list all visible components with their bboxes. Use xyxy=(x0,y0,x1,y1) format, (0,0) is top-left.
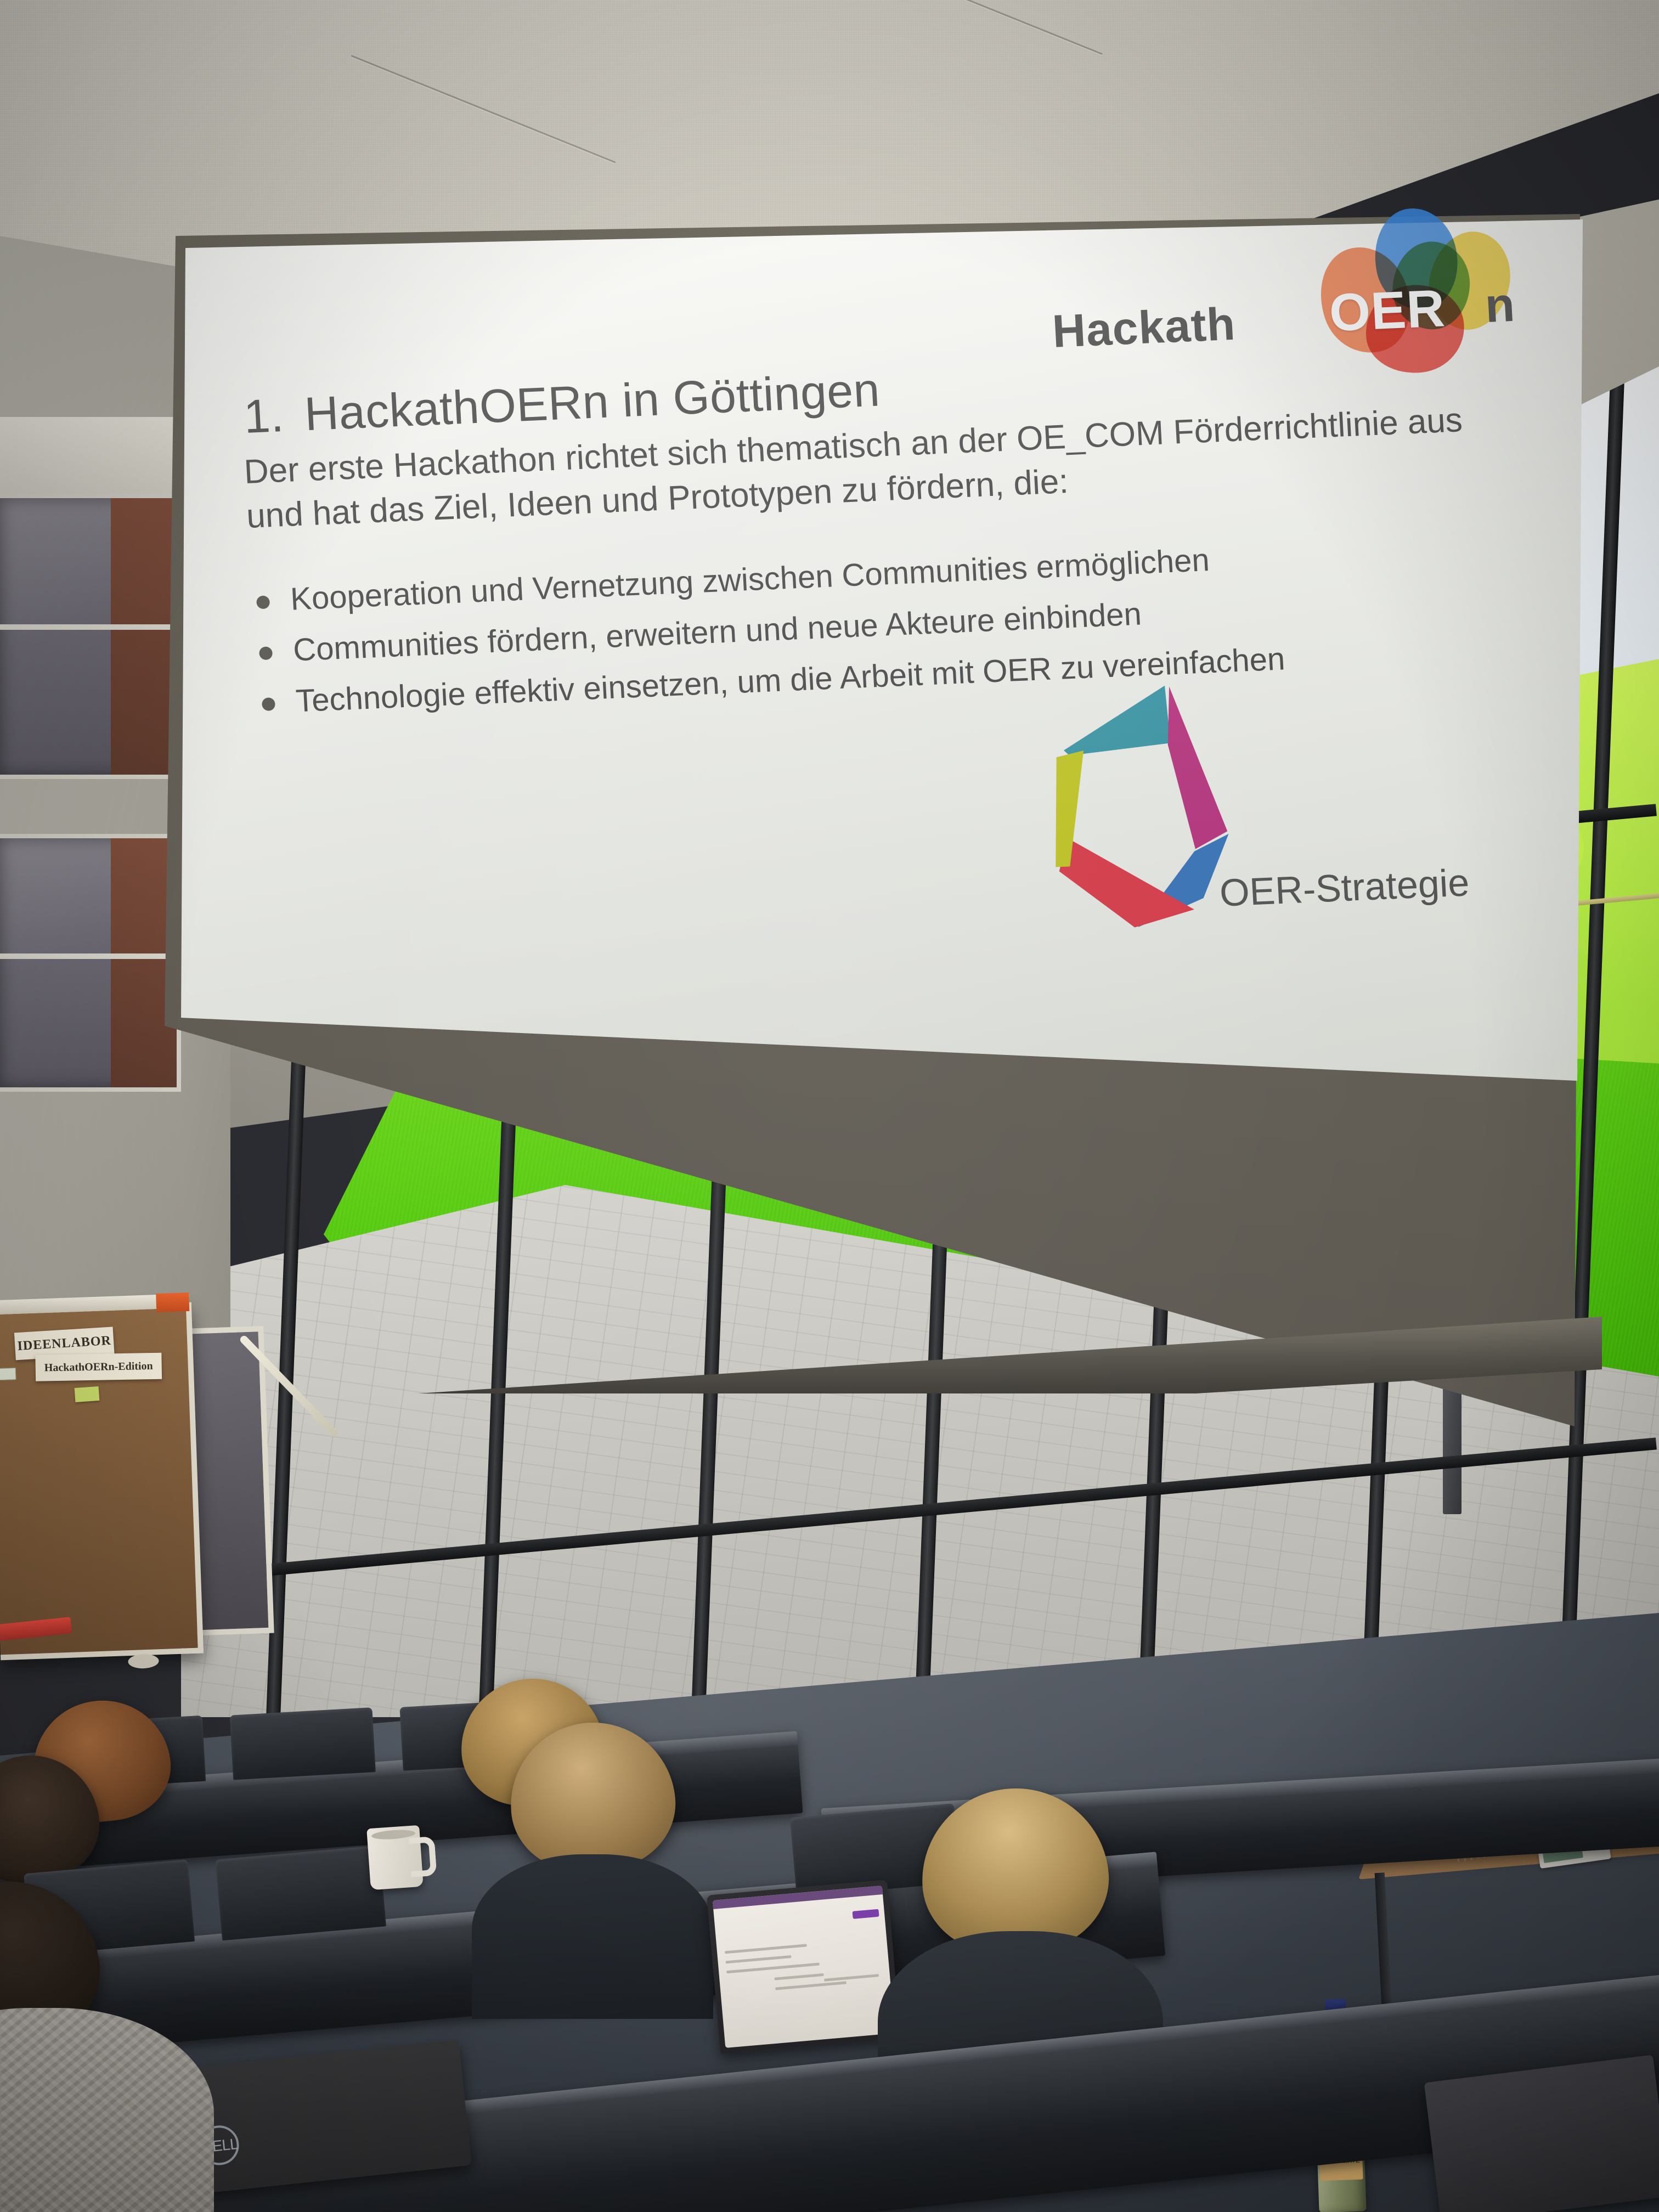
logo-word-suffix: n xyxy=(1483,276,1516,334)
facet-teal xyxy=(1060,686,1171,756)
laptop-closed-right[interactable] xyxy=(1424,2055,1659,2212)
hackathoern-logo: Hackath OER n xyxy=(1047,203,1549,388)
seat-back xyxy=(215,1846,386,1941)
person-shoulders xyxy=(472,1854,713,2019)
logo-word-prefix: Hackath xyxy=(1051,297,1237,358)
screen-text-line xyxy=(775,1981,847,1990)
screen-text-line xyxy=(726,1955,792,1963)
photograph: IDEENLABOR HackathOERn-Edition xyxy=(0,0,1659,2212)
slide: Hackath OER n 1.HackathOERn in Göttingen… xyxy=(189,157,1616,1060)
facet-magenta xyxy=(1165,684,1228,850)
screen-text-line xyxy=(824,1974,879,1982)
laptop-screen xyxy=(713,1886,895,2048)
macbook-open[interactable] xyxy=(707,1880,901,2054)
slide-title-number: 1. xyxy=(242,389,285,443)
laptop-lid xyxy=(707,1880,901,2054)
screen-text-line xyxy=(726,1962,820,1973)
screen-text-line xyxy=(725,1944,807,1954)
oer-strategie-logo: OER-Strategie xyxy=(1027,659,1427,982)
seat-back xyxy=(230,1707,376,1780)
screen-text-line xyxy=(775,1973,824,1980)
coffee-mug xyxy=(366,1825,424,1890)
screen-accent-button xyxy=(853,1909,879,1919)
logo-word-oer: OER xyxy=(1328,278,1447,343)
